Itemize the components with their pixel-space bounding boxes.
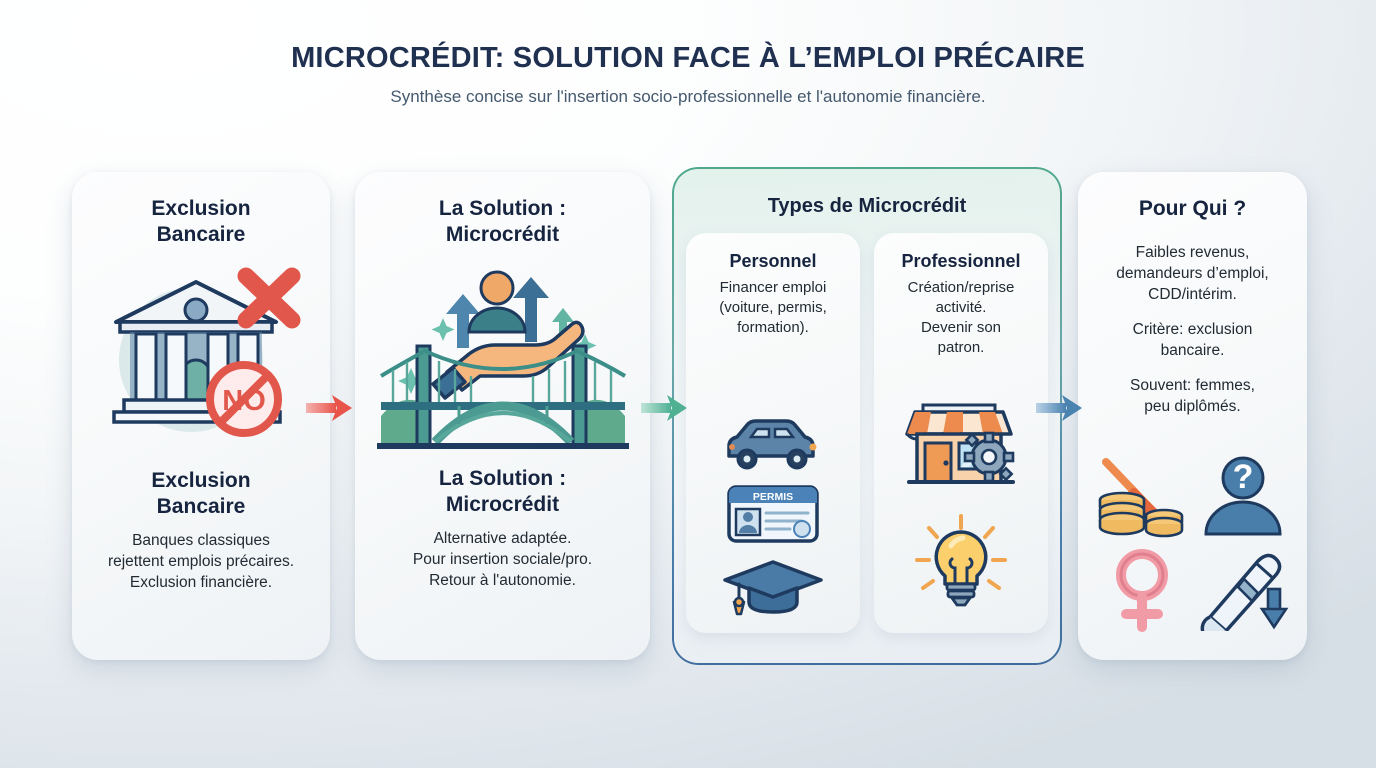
person-question-icon: ? — [1200, 454, 1286, 543]
sub-panel-professionnel[interactable]: Professionnel Création/reprise activité.… — [874, 233, 1048, 633]
page-title: MICROCRÉDIT: SOLUTION FACE À L’EMPLOI PR… — [0, 42, 1376, 75]
card-exclusion-subtitle: Exclusion Bancaire — [72, 468, 330, 520]
card-pour-qui[interactable]: Pour Qui ? Faibles revenus, demandeurs d… — [1078, 172, 1307, 660]
card-exclusion-bancaire[interactable]: Exclusion Bancaire — [72, 172, 330, 660]
card-exclusion-title-line1: Exclusion — [72, 196, 330, 222]
card-exclusion-subtitle-line2: Bancaire — [72, 494, 330, 520]
arrow-types-to-pourqui — [1036, 392, 1084, 429]
sub-panel-personnel-icons: PERMIS — [686, 414, 860, 621]
permis-label: PERMIS — [753, 491, 793, 503]
card-solution-title-line2: Microcrédit — [355, 222, 650, 248]
diploma-down-arrow-icon — [1196, 547, 1290, 638]
drivers-license-permis-icon: PERMIS — [726, 483, 820, 550]
sub-panel-professionnel-title: Professionnel — [874, 251, 1048, 272]
card-solution-subtitle-line2: Microcrédit — [355, 492, 650, 518]
types-sub-panels: Personnel Financer emploi (voiture, perm… — [686, 233, 1048, 633]
card-exclusion-title-line2: Bancaire — [72, 222, 330, 248]
coins-declining-arrow-icon — [1094, 454, 1190, 543]
card-types-de-microcredit[interactable]: Types de Microcrédit Personnel Financer … — [672, 167, 1062, 665]
arrow-exclusion-to-solution — [306, 392, 354, 429]
card-solution-subtitle: La Solution : Microcrédit — [355, 466, 650, 518]
sub-panel-personnel[interactable]: Personnel Financer emploi (voiture, perm… — [686, 233, 860, 633]
card-la-solution-microcredit[interactable]: La Solution : Microcrédit — [355, 172, 650, 660]
card-types-title: Types de Microcrédit — [674, 169, 1060, 219]
card-pourqui-icons: ? — [1092, 454, 1293, 638]
card-solution-title-line1: La Solution : — [355, 196, 650, 222]
card-pourqui-title: Pour Qui ? — [1078, 172, 1307, 222]
card-solution-title: La Solution : Microcrédit — [355, 172, 650, 248]
sub-panel-professionnel-body: Création/reprise activité. Devenir son p… — [874, 272, 1048, 358]
card-pourqui-paragraph-2: Critère: exclusion bancaire. — [1078, 319, 1307, 361]
sub-panel-personnel-body: Financer emploi (voiture, permis, format… — [686, 272, 860, 338]
page-subtitle: Synthèse concise sur l'insertion socio-p… — [0, 87, 1376, 107]
card-exclusion-subtitle-line1: Exclusion — [72, 468, 330, 494]
card-pourqui-paragraph-3: Souvent: femmes, peu diplômés. — [1078, 375, 1307, 417]
bank-blocked-icon: NO — [72, 254, 330, 466]
infographic-header: MICROCRÉDIT: SOLUTION FACE À L’EMPLOI PR… — [0, 42, 1376, 107]
bridge-hand-person-icon — [355, 252, 650, 464]
sub-panel-personnel-title: Personnel — [686, 251, 860, 272]
svg-text:?: ? — [1232, 458, 1253, 496]
arrow-solution-to-types — [641, 392, 689, 429]
card-exclusion-body: Banques classiques rejettent emplois pré… — [72, 530, 330, 593]
lightbulb-icon — [909, 512, 1013, 613]
shop-gear-icon — [901, 401, 1021, 498]
card-solution-subtitle-line1: La Solution : — [355, 466, 650, 492]
car-icon — [719, 414, 827, 477]
sub-panel-professionnel-icons — [874, 401, 1048, 613]
graduation-cap-icon — [721, 556, 825, 621]
card-exclusion-title: Exclusion Bancaire — [72, 172, 330, 248]
female-gender-icon — [1104, 547, 1180, 638]
card-solution-body: Alternative adaptée. Pour insertion soci… — [355, 528, 650, 591]
card-pourqui-paragraph-1: Faibles revenus, demandeurs d’emploi, CD… — [1078, 242, 1307, 305]
